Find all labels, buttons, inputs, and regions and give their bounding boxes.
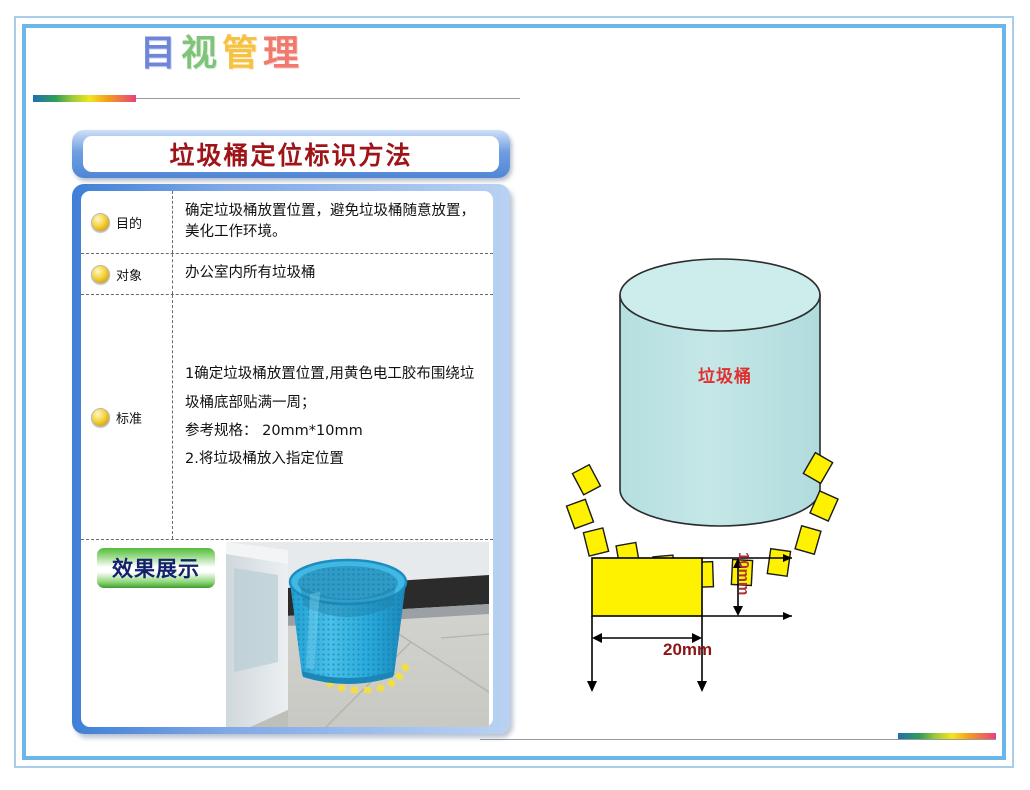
footer-line [480, 739, 996, 740]
row-label-purpose: 目的 [81, 191, 173, 253]
standard-line-4: 2.将垃圾桶放入指定位置 [185, 445, 485, 473]
standard-line-2: 圾桶底部贴满一周； [185, 389, 485, 417]
illustration-svg [560, 240, 980, 700]
demo-badge-text: 效果展示 [112, 553, 200, 583]
row-content-purpose: 确定垃圾桶放置位置，避免垃圾桶随意放置， 美化工作环境。 [173, 191, 493, 253]
dimension-height-label: 10mm [735, 552, 752, 595]
purpose-line-1: 确定垃圾桶放置位置，避免垃圾桶随意放置， [185, 201, 485, 222]
panel-header-title: 垃圾桶定位标识方法 [169, 136, 412, 172]
panel-header-inner: 垃圾桶定位标识方法 [83, 136, 499, 172]
info-row-purpose: 目的 确定垃圾桶放置位置，避免垃圾桶随意放置， 美化工作环境。 [81, 191, 493, 254]
cylinder-label: 垃圾桶 [698, 362, 752, 387]
title-char-1: 目 [140, 33, 181, 74]
demo-badge-wrap: 效果展示 [97, 548, 215, 588]
panel-body-frame: 目的 确定垃圾桶放置位置，避免垃圾桶随意放置， 美化工作环境。 对象 办公室内所… [72, 184, 510, 734]
panel-body-inner: 目的 确定垃圾桶放置位置，避免垃圾桶随意放置， 美化工作环境。 对象 办公室内所… [81, 191, 493, 727]
standard-line-1: 1确定垃圾桶放置位置,用黄色电工胶布围绕垃 [185, 360, 485, 388]
row-content-object: 办公室内所有垃圾桶 [173, 254, 493, 294]
title-char-2: 视 [181, 33, 222, 74]
dimension-diagram [587, 554, 792, 692]
cylinder-top [620, 259, 820, 331]
row-label-object: 对象 [81, 254, 173, 294]
info-row-standard: 标准 1确定垃圾桶放置位置,用黄色电工胶布围绕垃 圾桶底部贴满一周； 参考规格：… [81, 295, 493, 540]
gold-bullet-icon [91, 408, 110, 427]
wastebasket-photo [226, 542, 489, 727]
title-char-3: 管 [222, 33, 263, 74]
title-char-4: 理 [263, 33, 304, 74]
demo-badge: 效果展示 [97, 548, 215, 588]
row-label-standard: 标准 [81, 295, 173, 539]
info-row-object: 对象 办公室内所有垃圾桶 [81, 254, 493, 295]
purpose-line-2: 美化工作环境。 [185, 222, 485, 243]
row-label-text-purpose: 目的 [116, 213, 142, 232]
row-content-standard: 1确定垃圾桶放置位置,用黄色电工胶布围绕垃 圾桶底部贴满一周； 参考规格： 20… [173, 295, 493, 539]
object-line-1: 办公室内所有垃圾桶 [185, 263, 485, 284]
gold-bullet-icon [91, 213, 110, 232]
dimension-width-label: 20mm [663, 640, 712, 660]
gold-bullet-icon [91, 265, 110, 284]
info-row-demo: 效果展示 [81, 540, 493, 726]
row-label-text-object: 对象 [116, 265, 142, 284]
standard-line-3: 参考规格： 20mm*10mm [185, 417, 485, 445]
slide-title: 目视管理 [140, 36, 304, 72]
tape-dimension-rect [592, 558, 702, 616]
wastebasket-photo-svg [226, 542, 489, 727]
row-label-text-standard: 标准 [116, 408, 142, 427]
title-underline [136, 98, 520, 99]
rainbow-accent-bar-top [33, 95, 136, 102]
slide-page: 目视管理 垃圾桶定位标识方法 目的 确定垃圾桶放置位置，避免垃圾桶随意放置， 美… [0, 0, 1030, 790]
illustration-area: 垃圾桶 20mm 10mm [560, 240, 980, 700]
panel-header-bar: 垃圾桶定位标识方法 [72, 130, 510, 178]
